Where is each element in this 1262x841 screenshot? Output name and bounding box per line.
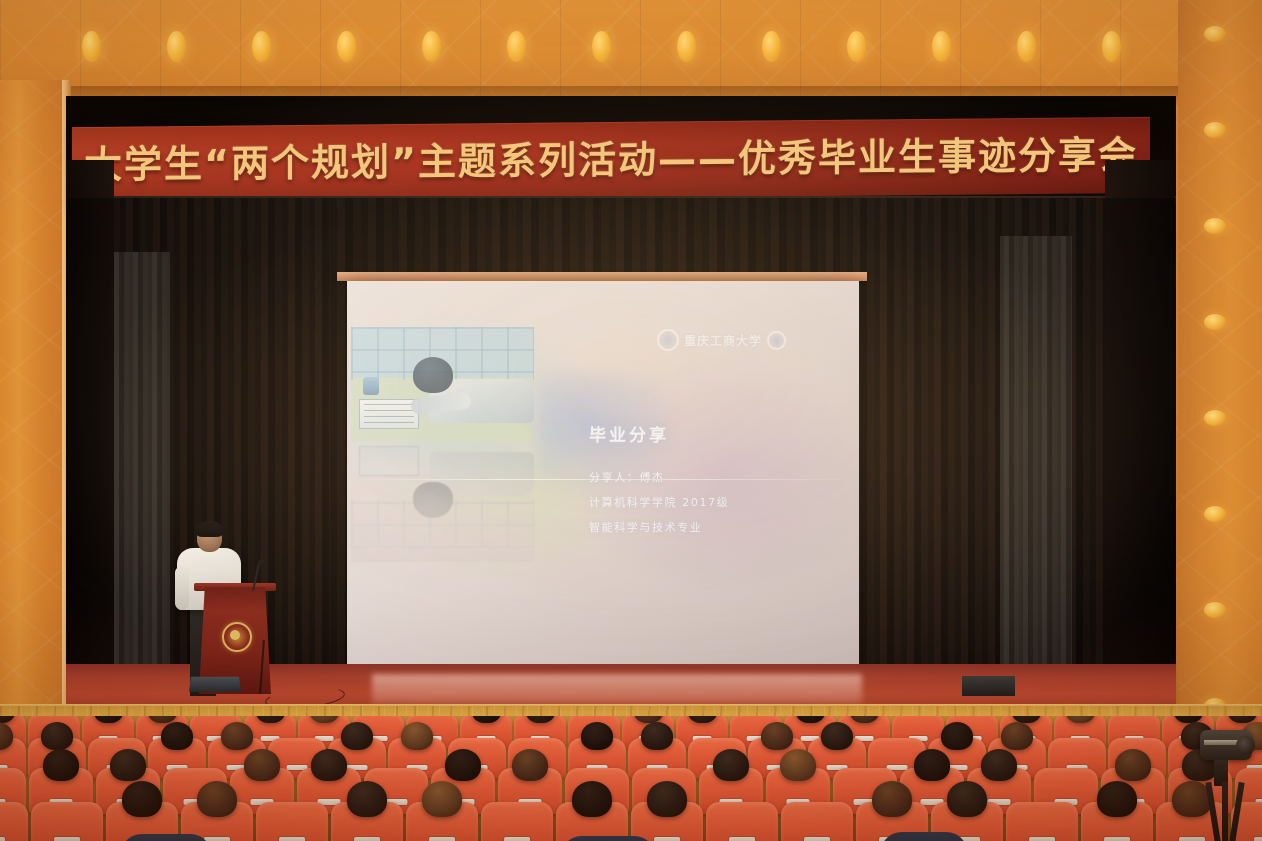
audience-member (1097, 781, 1137, 817)
podium-emblem-icon (222, 622, 252, 652)
camera-lens-icon (1236, 736, 1255, 755)
grey-drape-left (110, 252, 170, 692)
auditorium-seat (256, 802, 328, 841)
audience-member (761, 722, 793, 750)
tripod-leg (1229, 782, 1244, 841)
microphone-head-icon (258, 559, 264, 565)
audience-member-shoulders (560, 836, 656, 841)
right-pillar-texture (1178, 0, 1262, 745)
slide-line: 智能科学与技术专业 (589, 519, 729, 535)
auditorium-seat (0, 802, 28, 841)
ceiling-light-icon (1017, 31, 1036, 62)
logo-seal-icon (767, 331, 786, 350)
video-camera-rig (1196, 724, 1256, 841)
auditorium-seat (781, 802, 853, 841)
audience-member (647, 781, 687, 817)
presenter-arm (175, 566, 189, 610)
audience-member (401, 722, 433, 750)
left-wall-pillar (0, 80, 70, 720)
audience-member (581, 722, 613, 750)
audience-member (872, 781, 912, 817)
stage-light-beam (372, 674, 862, 704)
wall-light-icon (1204, 218, 1226, 234)
audience-member (445, 749, 481, 781)
tripod-leg (1222, 782, 1228, 841)
audience-member (122, 781, 162, 817)
auditorium-seat (481, 802, 553, 841)
audience-member (981, 749, 1017, 781)
audience-member (512, 749, 548, 781)
slide-title: 毕业分享 (589, 421, 669, 446)
presentation-slide: 重庆工商大学 毕业分享 分享人：傅杰计算机科学学院 2017级智能科学与技术专业 (347, 281, 859, 665)
ceiling-light-icon (82, 31, 101, 62)
slide-photo-image (351, 327, 534, 442)
audience-member-shoulders (120, 834, 212, 841)
photo-student-head (413, 357, 453, 393)
event-banner: 大学生“两个规划”主题系列活动——优秀毕业生事迹分享会 (72, 117, 1150, 203)
stage-speaker-box (962, 676, 1015, 696)
left-pillar-texture (0, 80, 70, 720)
audience-member (821, 722, 853, 750)
ceiling-light-icon (507, 31, 526, 62)
audience-member (914, 749, 950, 781)
ceiling-light-icon (932, 31, 951, 62)
audience-member (341, 722, 373, 750)
projection-screen-roller (337, 272, 867, 281)
ceiling-texture (0, 0, 1262, 96)
slide-line: 计算机科学学院 2017级 (589, 494, 729, 510)
audience-member (197, 781, 237, 817)
audience-member (43, 749, 79, 781)
audience-member (941, 722, 973, 750)
ceiling-light-icon (252, 31, 271, 62)
audience-member-shoulders (880, 832, 968, 841)
audience-member (1001, 722, 1033, 750)
audience-member (41, 722, 73, 750)
tripod-leg (1205, 782, 1220, 841)
audience-member (713, 749, 749, 781)
audience-member (110, 749, 146, 781)
audience-member (1115, 749, 1151, 781)
slide-line: 分享人：傅杰 (589, 469, 729, 485)
ceiling-light-icon (677, 31, 696, 62)
wall-light-icon (1204, 506, 1226, 522)
wall-light-icon (1204, 410, 1226, 426)
auditorium-scene: 大学生“两个规划”主题系列活动——优秀毕业生事迹分享会 (0, 0, 1262, 841)
audience-member (347, 781, 387, 817)
desk-cup (363, 377, 379, 395)
wall-light-icon (1204, 314, 1226, 330)
ceiling-light-icon (422, 31, 441, 62)
ceiling-light-icon (1102, 31, 1121, 62)
ceiling-light-icon (167, 31, 186, 62)
slide-subtitle-lines: 分享人：傅杰计算机科学学院 2017级智能科学与技术专业 (589, 469, 729, 535)
right-wall-pillar (1178, 0, 1262, 745)
ceiling-band (0, 0, 1262, 96)
event-banner-text: 大学生“两个规划”主题系列活动——优秀毕业生事迹分享会 (72, 124, 1150, 189)
ceiling-light-icon (762, 31, 781, 62)
audience-member (422, 781, 462, 817)
audience-seating-area (0, 716, 1262, 841)
book-text-lines (364, 404, 414, 424)
audience-member (947, 781, 987, 817)
auditorium-seat (1006, 802, 1078, 841)
desk-book (359, 399, 419, 429)
projection-screen: 重庆工商大学 毕业分享 分享人：傅杰计算机科学学院 2017级智能科学与技术专业 (347, 281, 859, 665)
wall-light-icon (1204, 122, 1226, 138)
auditorium-seat (31, 802, 103, 841)
logo-ring-icon (657, 329, 679, 351)
university-logo: 重庆工商大学 (657, 329, 786, 351)
presenter-hair (196, 521, 223, 537)
grey-drape-right (1000, 236, 1072, 702)
audience-member (244, 749, 280, 781)
ceiling-light-icon (847, 31, 866, 62)
audience-member (572, 781, 612, 817)
university-logo-text: 重庆工商大学 (684, 332, 762, 349)
reflection-fade (351, 444, 534, 562)
wall-light-icon (1204, 602, 1226, 618)
audience-member (221, 722, 253, 750)
audience-member (161, 722, 193, 750)
curtain-dark-edge-right (1105, 160, 1175, 716)
audience-member (641, 722, 673, 750)
stage-floor-monitor (189, 677, 241, 692)
audience-member (311, 749, 347, 781)
wall-light-icon (1204, 26, 1226, 42)
auditorium-seat (706, 802, 778, 841)
ceiling-light-icon (592, 31, 611, 62)
ceiling-light-icon (337, 31, 356, 62)
curtain-dark-edge-left (66, 160, 114, 716)
audience-member (780, 749, 816, 781)
camera-band (1204, 740, 1238, 745)
